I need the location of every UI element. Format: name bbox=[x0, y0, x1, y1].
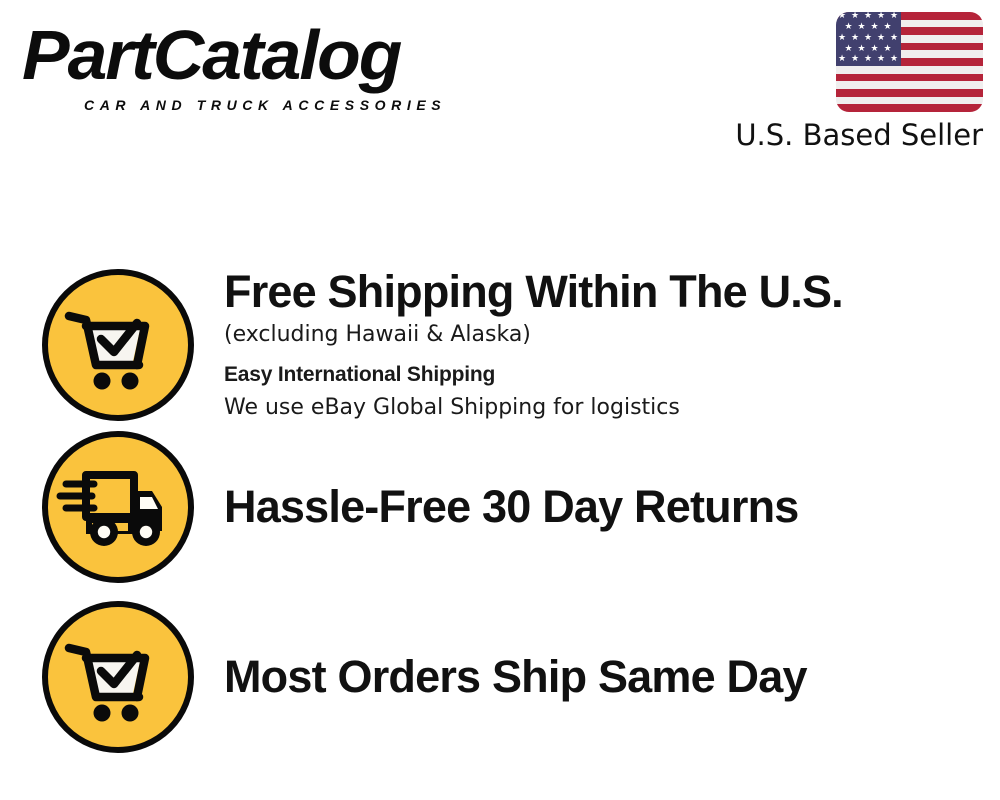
brand-wordmark: PartCatalog bbox=[22, 17, 400, 93]
flag-star: ★ bbox=[877, 12, 885, 21]
flag-star: ★ bbox=[845, 45, 853, 54]
flag-star: ★ bbox=[864, 55, 872, 64]
brand-tagline: CAR AND TRUCK ACCESSORIES bbox=[84, 97, 446, 113]
us-based-seller-label: U.S. Based Seller bbox=[735, 118, 983, 152]
us-flag-icon: ★★★★★★★★★★★★★★★★★★★★★★★ bbox=[836, 12, 983, 112]
flag-star: ★ bbox=[858, 45, 866, 54]
feature-text-block: Most Orders Ship Same Day bbox=[224, 651, 1000, 703]
flag-canton: ★★★★★★★★★★★★★★★★★★★★★★★ bbox=[836, 12, 901, 66]
flag-star: ★ bbox=[890, 55, 898, 64]
flag-star: ★ bbox=[884, 45, 892, 54]
flag-stripe bbox=[836, 81, 983, 89]
flag-star: ★ bbox=[851, 55, 859, 64]
shopping-cart-check-icon bbox=[42, 269, 194, 421]
flag-star: ★ bbox=[877, 55, 885, 64]
truck-glyph bbox=[42, 431, 194, 583]
flag-star: ★ bbox=[858, 23, 866, 32]
flag-star: ★ bbox=[838, 34, 846, 43]
flag-star: ★ bbox=[845, 23, 853, 32]
flag-stripe bbox=[836, 89, 983, 97]
feature-row: Most Orders Ship Same Day bbox=[0, 592, 1000, 762]
flag-star: ★ bbox=[877, 34, 885, 43]
flag-stripe bbox=[836, 74, 983, 82]
page-header: PartCatalog CAR AND TRUCK ACCESSORIES ★★… bbox=[0, 0, 1000, 175]
flag-star: ★ bbox=[890, 12, 898, 21]
feature-text-block: Hassle-Free 30 Day Returns bbox=[224, 481, 1000, 533]
feature-subline: Easy International Shipping bbox=[224, 358, 1000, 391]
flag-star: ★ bbox=[864, 34, 872, 43]
feature-row: Free Shipping Within The U.S. (excluding… bbox=[0, 250, 1000, 440]
cart-check-glyph bbox=[42, 601, 194, 753]
feature-title: Most Orders Ship Same Day bbox=[224, 651, 1000, 703]
flag-star: ★ bbox=[851, 12, 859, 21]
flag-star: ★ bbox=[838, 55, 846, 64]
feature-subline: (excluding Hawaii & Alaska) bbox=[224, 318, 1000, 352]
brand-logo[interactable]: PartCatalog CAR AND TRUCK ACCESSORIES bbox=[22, 17, 492, 117]
feature-subline: We use eBay Global Shipping for logistic… bbox=[224, 391, 1000, 425]
shopping-cart-check-icon bbox=[42, 601, 194, 753]
flag-star: ★ bbox=[871, 23, 879, 32]
flag-star: ★ bbox=[851, 34, 859, 43]
flag-stripe bbox=[836, 104, 983, 112]
flag-star: ★ bbox=[838, 12, 846, 21]
feature-title: Hassle-Free 30 Day Returns bbox=[224, 481, 1000, 533]
delivery-truck-icon bbox=[42, 431, 194, 583]
flag-stripe bbox=[836, 97, 983, 105]
feature-text-block: Free Shipping Within The U.S. (excluding… bbox=[224, 266, 1000, 425]
feature-row: Hassle-Free 30 Day Returns bbox=[0, 422, 1000, 592]
flag-star: ★ bbox=[864, 12, 872, 21]
flag-star: ★ bbox=[890, 34, 898, 43]
flag-stripe bbox=[836, 66, 983, 74]
feature-title: Free Shipping Within The U.S. bbox=[224, 266, 1000, 318]
flag-star: ★ bbox=[871, 45, 879, 54]
flag-star: ★ bbox=[884, 23, 892, 32]
cart-check-glyph bbox=[42, 269, 194, 421]
